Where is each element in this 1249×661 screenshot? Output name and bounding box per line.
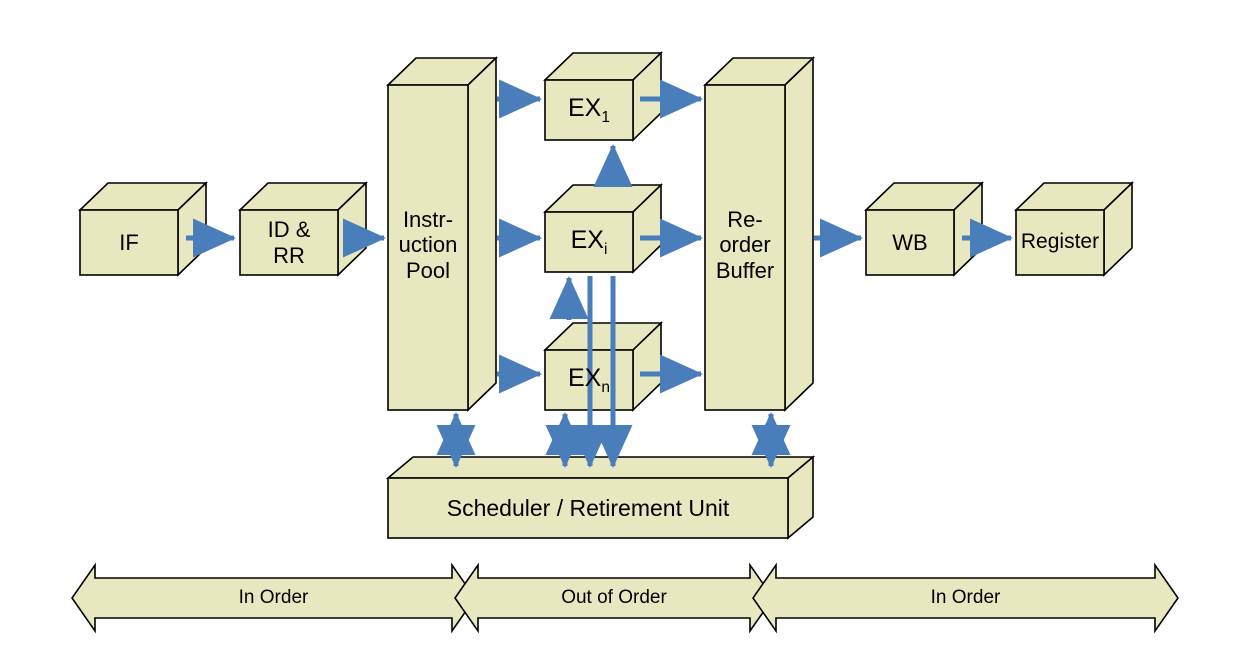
block-ex-n (545, 323, 661, 410)
band-in-order-back (753, 565, 1178, 631)
block-wb (866, 183, 982, 275)
block-reorder-buffer (705, 58, 813, 410)
block-ex-i (545, 185, 661, 272)
block-id-rr (240, 183, 366, 275)
band-in-order-front (72, 565, 475, 631)
block-scheduler (388, 457, 813, 538)
diagram-canvas: IF ID & RR Instr- uction Pool EX1 EXi EX… (0, 0, 1249, 661)
band-out-of-order (455, 565, 773, 631)
block-if (80, 183, 206, 275)
block-instruction-pool (388, 58, 496, 410)
pipeline-diagram (0, 0, 1249, 661)
block-register (1016, 183, 1132, 275)
